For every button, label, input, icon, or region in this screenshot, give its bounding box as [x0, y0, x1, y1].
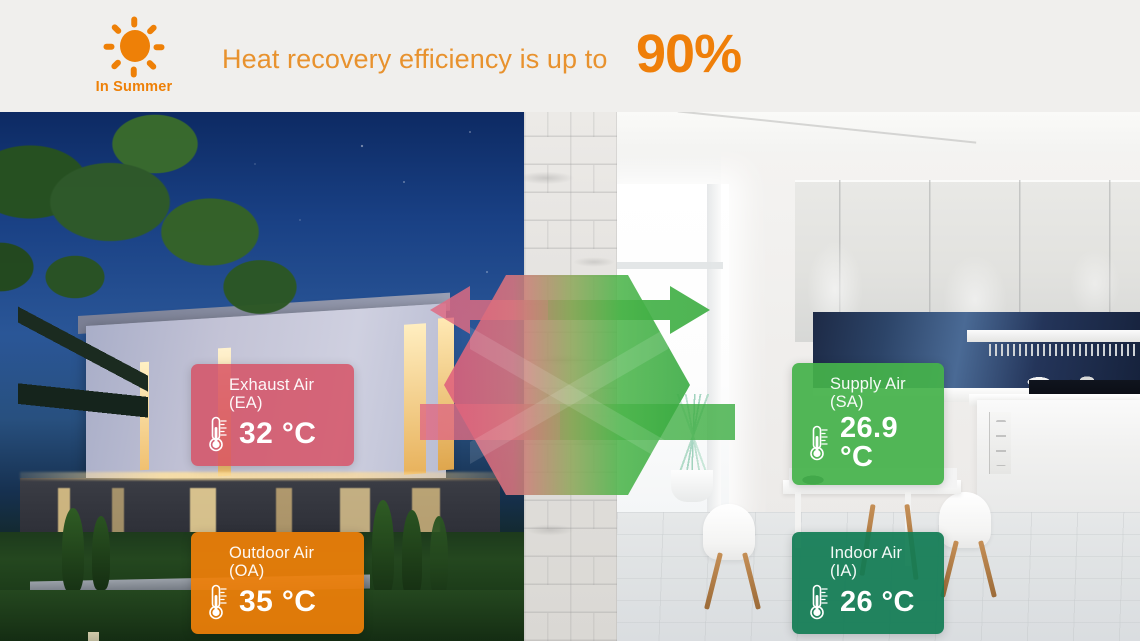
- sun-ray: [110, 59, 122, 71]
- thermometer-icon: [808, 583, 830, 621]
- season-label: In Summer: [88, 79, 180, 95]
- brick-texture: [524, 112, 617, 641]
- cypress-tree: [92, 516, 110, 590]
- cypress-tree: [372, 500, 394, 596]
- badge-value: 26.9 °C: [840, 414, 926, 472]
- sun-ray: [131, 17, 137, 28]
- sun-ray: [146, 23, 158, 35]
- badge-value-row: 32 °C: [207, 415, 336, 453]
- potted-plant-pot: [671, 470, 713, 502]
- thermometer-icon: [207, 583, 229, 621]
- sun-core: [120, 30, 150, 62]
- efficiency-value: 90%: [636, 27, 741, 81]
- dining-chair: [939, 492, 991, 548]
- dining-chair: [703, 504, 755, 560]
- range-hood-vent: [989, 344, 1139, 356]
- badge-value-row: 35 °C: [207, 583, 346, 621]
- badge-title: Indoor Air (IA): [830, 544, 926, 580]
- sun-icon: [100, 16, 168, 78]
- brick-wall-divider: [524, 112, 617, 641]
- badge-exhaust-air[interactable]: Exhaust Air (EA) 32 °C: [191, 364, 354, 466]
- badge-title: Outdoor Air (OA): [229, 544, 346, 580]
- range-hood: [967, 330, 1140, 342]
- thermometer-icon: [207, 415, 229, 453]
- cypress-tree: [430, 516, 448, 596]
- garden-bollard-light: [88, 632, 99, 641]
- badge-indoor-air[interactable]: Indoor Air (IA) 26 °C: [792, 532, 944, 634]
- badge-value: 35 °C: [239, 587, 316, 617]
- sun-ray: [131, 67, 137, 78]
- badge-title: Supply Air (SA): [830, 375, 926, 411]
- badge-value: 26 °C: [840, 588, 915, 617]
- badge-value: 32 °C: [239, 419, 316, 449]
- badge-title: Exhaust Air (EA): [229, 376, 336, 412]
- header-bar: In Summer Heat recovery efficiency is up…: [0, 0, 1140, 112]
- scene-area: Exhaust Air (EA) 32 °C: [0, 112, 1140, 641]
- cypress-tree: [402, 510, 422, 598]
- power-socket-strip: [989, 412, 1011, 474]
- cypress-tree: [62, 508, 84, 592]
- window-mullion: [617, 262, 723, 269]
- sun-ray: [110, 23, 122, 35]
- badge-outdoor-air[interactable]: Outdoor Air (OA) 35 °C: [191, 532, 364, 634]
- potted-plant-leaves: [657, 394, 731, 478]
- tree-canopy: [0, 112, 320, 382]
- sun-ray: [104, 44, 115, 50]
- season-block: In Summer: [88, 16, 180, 95]
- sun-ray: [154, 44, 165, 50]
- sun-ray: [146, 59, 158, 71]
- badge-value-row: 26 °C: [808, 583, 926, 621]
- badge-supply-air[interactable]: Supply Air (SA) 26.9 °C: [792, 363, 944, 485]
- infographic-stage: In Summer Heat recovery efficiency is up…: [0, 0, 1140, 641]
- badge-value-row: 26.9 °C: [808, 414, 926, 472]
- headline-text: Heat recovery efficiency is up to: [222, 44, 607, 75]
- house-window: [438, 317, 454, 470]
- house-window: [404, 323, 426, 474]
- thermometer-icon: [808, 424, 830, 462]
